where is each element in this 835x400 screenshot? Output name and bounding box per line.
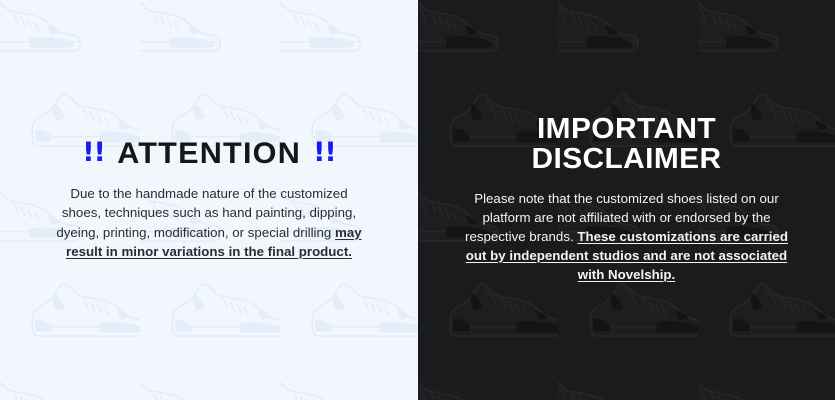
attention-body: Due to the handmade nature of the custom… <box>49 184 369 261</box>
disclaimer-heading-line2: DISCLAIMER <box>443 145 811 175</box>
disclaimer-heading: IMPORTANT DISCLAIMER <box>443 115 811 175</box>
disclaimer-body: Please note that the customized shoes li… <box>462 190 792 284</box>
double-exclamation-right-icon: !! <box>313 139 336 166</box>
disclaimer-heading-line1: IMPORTANT <box>443 115 811 145</box>
attention-heading: !! ATTENTION !! <box>28 139 390 169</box>
double-exclamation-left-icon: !! <box>82 139 105 166</box>
attention-body-normal: Due to the handmade nature of the custom… <box>56 186 356 240</box>
disclaimer-content: IMPORTANT DISCLAIMER Please note that th… <box>418 115 835 284</box>
disclaimer-panel: IMPORTANT DISCLAIMER Please note that th… <box>418 0 835 400</box>
attention-title: ATTENTION <box>117 139 301 169</box>
dual-notice-banner: !! ATTENTION !! Due to the handmade natu… <box>0 0 835 400</box>
attention-content: !! ATTENTION !! Due to the handmade natu… <box>0 139 418 261</box>
attention-panel: !! ATTENTION !! Due to the handmade natu… <box>0 0 418 400</box>
